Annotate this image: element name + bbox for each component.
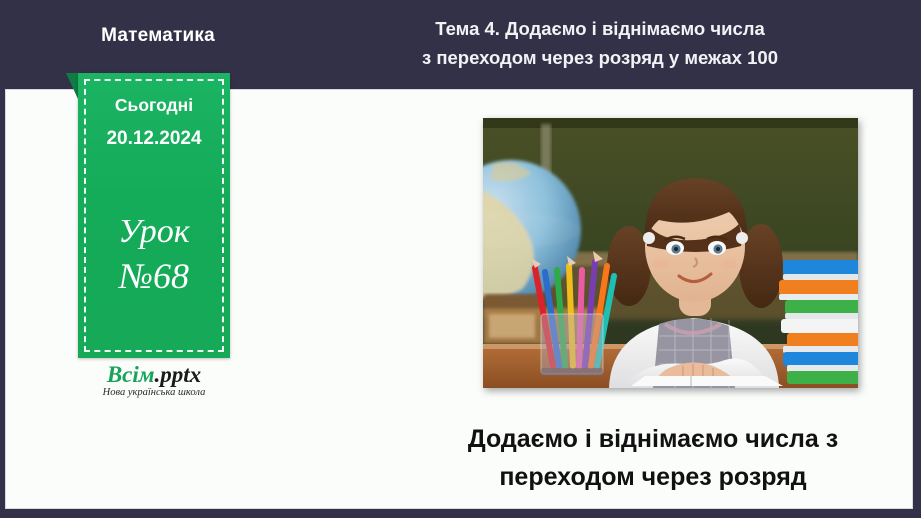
date-card: Сьогодні 20.12.2024 Урок №68 (78, 73, 230, 358)
logo-name-black: .pptx (155, 362, 202, 387)
logo-name-green: Всім (107, 362, 155, 387)
caption-line-1: Додаємо і віднімаємо числа з (408, 420, 898, 458)
slide-root: Математика Тема 4. Додаємо і віднімаємо … (0, 0, 921, 518)
lesson-number: №68 (78, 255, 230, 297)
topic-line-1: Тема 4. Додаємо і віднімаємо числа (300, 14, 900, 43)
photo-illustration (483, 118, 858, 388)
date-card-body: Сьогодні 20.12.2024 Урок №68 (78, 73, 230, 358)
date-value: 20.12.2024 (78, 128, 230, 150)
slide-caption: Додаємо і віднімаємо числа з переходом ч… (408, 420, 898, 496)
brand-logo[interactable]: Всім.pptx Нова українська школа (78, 362, 230, 398)
topic-line-2: з переходом через розряд у межах 100 (300, 43, 900, 72)
school-girl-photo (483, 118, 858, 388)
logo-wordmark: Всім.pptx (78, 362, 230, 387)
today-label: Сьогодні (78, 95, 230, 116)
caption-line-2: переходом через розряд (408, 458, 898, 496)
lesson-word: Урок (78, 211, 230, 253)
subject-label: Математика (78, 25, 238, 47)
logo-tagline: Нова українська школа (78, 387, 230, 398)
topic-title: Тема 4. Додаємо і віднімаємо числа з пер… (300, 14, 900, 72)
